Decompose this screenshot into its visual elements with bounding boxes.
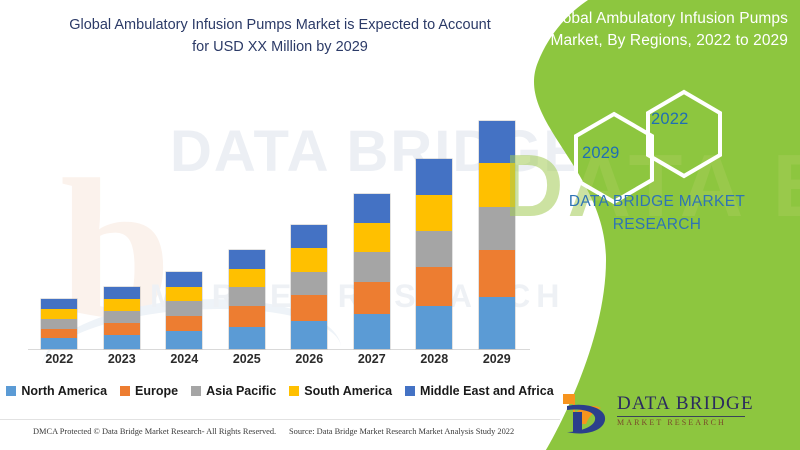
infographic-canvas: b DATA BRIDGE MARKET RESEARCH Global Amb… [0,0,800,450]
bar-segment [229,306,265,327]
x-tick-2028: 2028 [416,352,452,366]
bar-segment [291,295,327,320]
bar-segment [166,301,202,316]
bar-2022[interactable] [41,299,77,349]
bar-segment [41,299,77,309]
legend-swatch-icon [6,386,16,396]
bar-segment [354,194,390,223]
x-tick-2023: 2023 [104,352,140,366]
bar-segment [104,287,140,299]
bar-segment [291,225,327,248]
hexagon-2029-label: 2029 [582,144,620,163]
legend-swatch-icon [120,386,130,396]
bar-segment [354,223,390,252]
bar-segment [229,287,265,306]
hexagon-group: 2029 2022 [554,88,764,203]
logo-main-text: DATA BRIDGE [617,394,754,413]
bar-segment [354,314,390,349]
hexagon-2022-label: 2022 [651,110,689,129]
bar-2023[interactable] [104,287,140,349]
bar-segment [229,250,265,269]
bar-segment [41,309,77,319]
bar-segment [41,329,77,339]
legend-swatch-icon [191,386,201,396]
logo-divider [617,416,745,417]
bar-segment [291,272,327,295]
x-tick-2025: 2025 [229,352,265,366]
bar-segment [291,321,327,349]
bar-segment [41,338,77,349]
x-tick-2027: 2027 [354,352,390,366]
panel-brand-text: DATA BRIDGE MARKET RESEARCH [528,190,786,237]
x-tick-2022: 2022 [41,352,77,366]
x-axis-tick-labels: 20222023202420252026202720282029 [28,352,528,374]
logo-sub-text: MARKET RESEARCH [617,419,754,427]
bar-2027[interactable] [354,194,390,349]
bar-chart-plot-area [28,95,528,349]
bar-2028[interactable] [416,159,452,349]
bar-segment [416,306,452,349]
chart-title: Global Ambulatory Infusion Pumps Market … [60,14,500,59]
bar-segment [229,269,265,288]
legend-label: Asia Pacific [206,384,276,398]
bar-segment [166,287,202,302]
bar-segment [104,335,140,349]
x-axis-line [28,349,530,350]
bar-segment [291,248,327,271]
bar-segment [166,316,202,332]
legend-swatch-icon [405,386,415,396]
bar-segment [416,159,452,195]
bar-2024[interactable] [166,272,202,349]
footer-source: Source: Data Bridge Market Research Mark… [289,427,514,436]
legend-item[interactable]: South America [289,384,392,398]
bar-segment [104,323,140,336]
bar-segment [229,327,265,349]
bar-2025[interactable] [229,250,265,349]
bar-segment [104,311,140,323]
data-bridge-logo: DATA BRIDGE MARKET RESEARCH [555,392,755,440]
legend-label: Europe [135,384,178,398]
legend-label: North America [21,384,107,398]
bar-2026[interactable] [291,225,327,349]
footer-copyright: DMCA Protected © Data Bridge Market Rese… [33,427,276,436]
panel-title: Global Ambulatory Infusion Pumps Market,… [540,8,788,53]
logo-text-block: DATA BRIDGE MARKET RESEARCH [617,394,754,427]
bar-segment [416,231,452,267]
right-green-panel: DATA BRIDGE Global Ambulatory Infusion P… [510,0,800,450]
bar-segment [354,252,390,281]
legend-label: South America [304,384,392,398]
logo-b-mark-icon [555,392,613,438]
footer-divider [0,419,560,420]
legend-item[interactable]: Europe [120,384,178,398]
bar-segment [416,267,452,306]
bar-segment [41,319,77,329]
legend-item[interactable]: Asia Pacific [191,384,276,398]
chart-legend: North AmericaEuropeAsia PacificSouth Ame… [28,381,532,401]
x-tick-2026: 2026 [291,352,327,366]
hexagon-2022-icon [648,92,720,176]
bar-segment [166,331,202,349]
x-tick-2024: 2024 [166,352,202,366]
legend-item[interactable]: North America [6,384,107,398]
bar-segment [104,299,140,311]
legend-swatch-icon [289,386,299,396]
bar-segment [166,272,202,287]
bar-segment [416,195,452,231]
bar-segment [354,282,390,314]
footer: DMCA Protected © Data Bridge Market Rese… [0,427,560,445]
